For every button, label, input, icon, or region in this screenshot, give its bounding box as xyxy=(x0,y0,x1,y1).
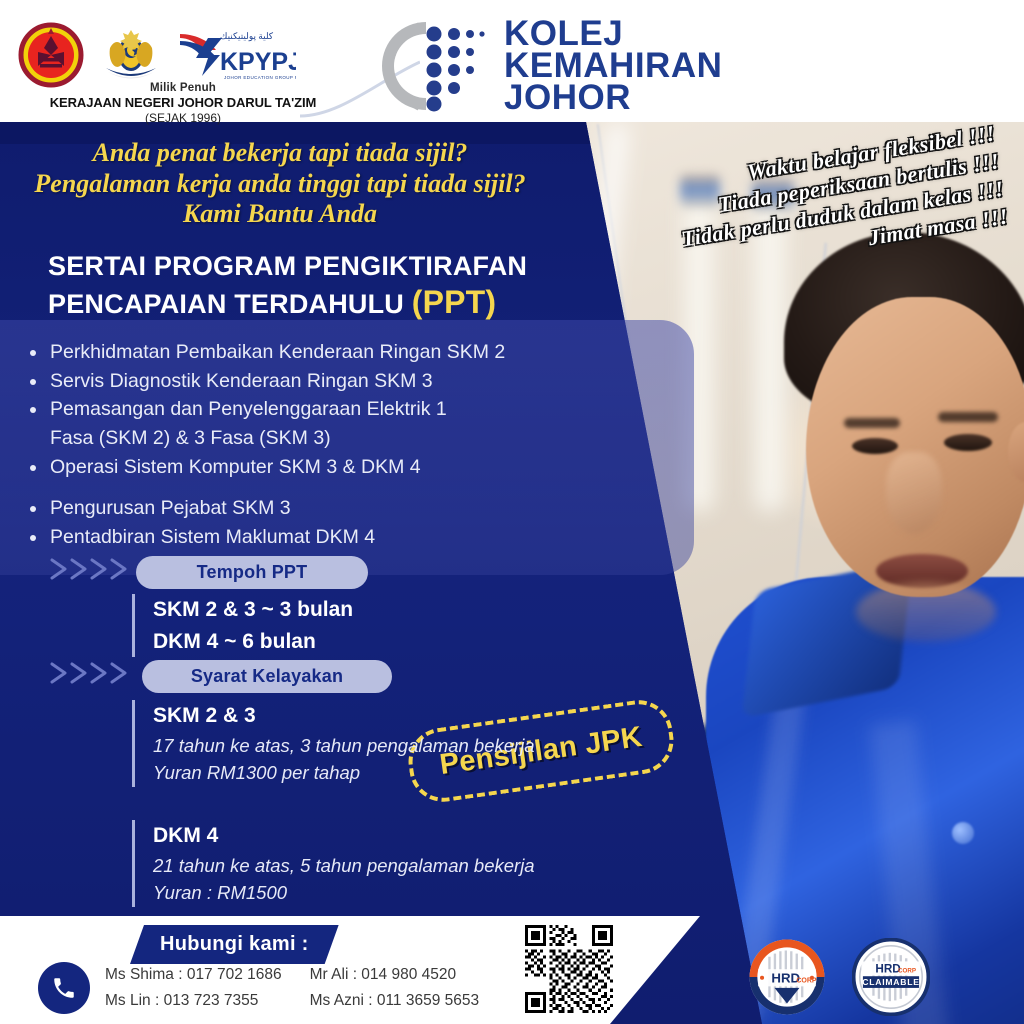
list-item-continuation: Fasa (SKM 2) & 3 Fasa (SKM 3) xyxy=(28,425,668,453)
kkj-wordmark: KOLEJ KEMAHIRAN JOHOR xyxy=(504,18,722,115)
main-content: Anda penat bekerja tapi tiada sijil? Pen… xyxy=(0,122,1024,1024)
contact-entry: Ms Lin : 013 723 7355 xyxy=(105,988,282,1014)
hrd-corp-registered-training-provider-icon: HRD CORP xyxy=(748,938,826,1016)
svg-text:HRD: HRD xyxy=(875,962,900,975)
tempoh-label-pill: Tempoh PPT xyxy=(136,556,368,589)
tempoh-details: SKM 2 & 3 ~ 3 bulan DKM 4 ~ 6 bulan xyxy=(132,594,353,657)
contact-list: Ms Shima : 017 702 1686 Ms Lin : 013 723… xyxy=(105,962,479,1013)
ownership-big-label: KERAJAAN NEGERI JOHOR DARUL TA'ZIM xyxy=(18,95,348,110)
svg-text:كلية پوليتيكنيك: كلية پوليتيكنيك xyxy=(220,31,274,42)
poster-root: Waktu belajar fleksibel !!! Tiada peperi… xyxy=(0,0,1024,1024)
svg-text:CORP: CORP xyxy=(898,967,916,974)
list-item: Pentadbiran Sistem Maklumat DKM 4 xyxy=(28,524,668,552)
syarat-group-line-1: 17 tahun ke atas, 3 tahun pengalaman bek… xyxy=(153,732,535,760)
contact-label-banner: Hubungi kami : xyxy=(130,925,339,964)
jpn-johor-crest-icon xyxy=(18,22,84,88)
ownership-caption: Milik Penuh KERAJAAN NEGERI JOHOR DARUL … xyxy=(18,82,348,125)
kkj-gear-dots-icon xyxy=(378,20,494,112)
svg-text:JOHOR EDUCATION GROUP FOUNDATI: JOHOR EDUCATION GROUP FOUNDATION xyxy=(224,75,296,80)
syarat-group-line-2: Yuran RM1300 per tahap xyxy=(153,759,535,787)
tagline-line-2: Pengalaman kerja anda tinggi tapi tiada … xyxy=(0,169,560,200)
header-logos: KPYPJ كلية پوليتيكنيك JOHOR EDUCATION GR… xyxy=(18,22,296,88)
tagline-line-3: Kami Bantu Anda xyxy=(0,199,560,230)
ownership-year-label: (SEJAK 1996) xyxy=(18,111,348,125)
syarat-group-title: SKM 2 & 3 xyxy=(153,700,535,732)
tagline-line-1: Anda penat bekerja tapi tiada sijil? xyxy=(0,138,560,169)
syarat-group-line-2: Yuran : RM1500 xyxy=(153,879,535,907)
program-list-card: Perkhidmatan Pembaikan Kenderaan Ringan … xyxy=(0,320,694,575)
tempoh-line-1: SKM 2 & 3 ~ 3 bulan xyxy=(153,594,353,626)
program-acronym: (PPT) xyxy=(412,284,497,320)
program-heading-line-1: SERTAI PROGRAM PENGIKTIRAFAN xyxy=(48,250,568,283)
kolej-kemahiran-johor-logo: KOLEJ KEMAHIRAN JOHOR xyxy=(378,18,738,114)
list-item: Operasi Sistem Komputer SKM 3 & DKM 4 xyxy=(28,454,668,482)
kkj-line-3: JOHOR xyxy=(504,82,722,114)
phone-icon xyxy=(38,962,90,1014)
program-heading: SERTAI PROGRAM PENGIKTIRAFAN PENCAPAIAN … xyxy=(48,250,568,322)
contact-column-2: Mr Ali : 014 980 4520 Ms Azni : 011 3659… xyxy=(310,962,479,1013)
syarat-label-pill: Syarat Kelayakan xyxy=(142,660,392,693)
tempoh-line-2: DKM 4 ~ 6 bulan xyxy=(153,626,353,658)
program-list: Perkhidmatan Pembaikan Kenderaan Ringan … xyxy=(28,339,668,552)
list-item: Servis Diagnostik Kenderaan Ringan SKM 3 xyxy=(28,368,668,396)
contact-entry: Ms Shima : 017 702 1686 xyxy=(105,962,282,988)
contact-entry: Ms Azni : 011 3659 5653 xyxy=(310,988,479,1014)
list-item: Pengurusan Pejabat SKM 3 xyxy=(28,495,668,523)
syarat-group-dkm: DKM 4 21 tahun ke atas, 5 tahun pengalam… xyxy=(132,820,535,907)
qr-code-icon[interactable] xyxy=(525,925,613,1013)
syarat-group-title: DKM 4 xyxy=(153,820,535,852)
contact-column-1: Ms Shima : 017 702 1686 Ms Lin : 013 723… xyxy=(105,962,282,1013)
program-heading-line-2: PENCAPAIAN TERDAHULU xyxy=(48,289,404,319)
chevron-arrows-icon xyxy=(48,660,148,686)
syarat-group-skm: SKM 2 & 3 17 tahun ke atas, 3 tahun peng… xyxy=(132,700,535,787)
hrd-corp-claimable-icon: HRD CORP CLAIMABLE xyxy=(852,938,930,1016)
contact-entry: Mr Ali : 014 980 4520 xyxy=(310,962,479,988)
svg-text:CLAIMABLE: CLAIMABLE xyxy=(862,977,920,987)
tagline: Anda penat bekerja tapi tiada sijil? Pen… xyxy=(0,138,560,230)
list-item: Perkhidmatan Pembaikan Kenderaan Ringan … xyxy=(28,339,668,367)
chevron-arrows-icon xyxy=(48,556,148,582)
syarat-group-line-1: 21 tahun ke atas, 5 tahun pengalaman bek… xyxy=(153,852,535,880)
kpypj-logo-icon: KPYPJ كلية پوليتيكنيك JOHOR EDUCATION GR… xyxy=(178,28,296,84)
ownership-small-label: Milik Penuh xyxy=(18,82,348,94)
svg-text:KPYPJ: KPYPJ xyxy=(220,48,296,76)
program-heading-line-2-wrap: PENCAPAIAN TERDAHULU (PPT) xyxy=(48,283,568,322)
header-bar: KPYPJ كلية پوليتيكنيك JOHOR EDUCATION GR… xyxy=(0,0,1024,122)
list-item: Pemasangan dan Penyelenggaraan Elektrik … xyxy=(28,396,668,424)
johor-state-crest-icon xyxy=(98,22,164,88)
hrd-corp-badges: HRD CORP HRD CORP C xyxy=(748,938,930,1016)
